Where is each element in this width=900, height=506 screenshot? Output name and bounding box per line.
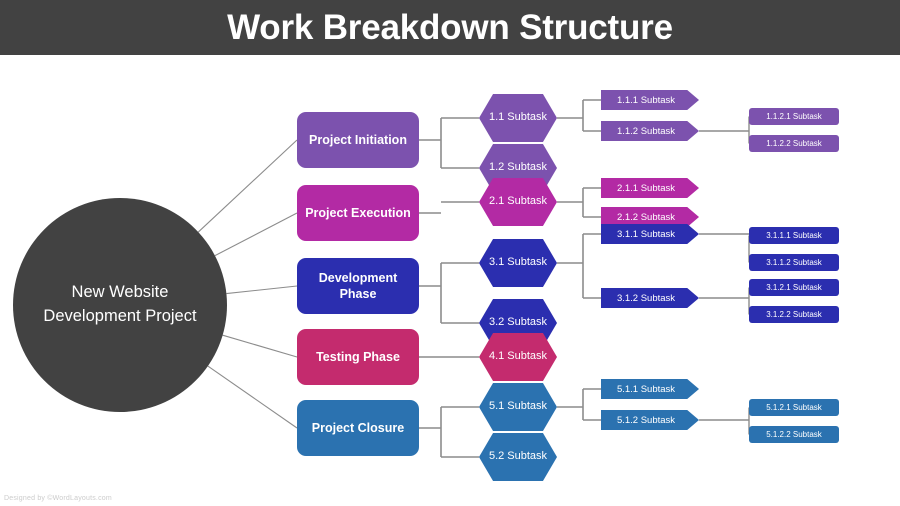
wbs-infographic: Work Breakdown Structure New Website Dev… xyxy=(0,0,900,506)
wbs-node-5.1.2-label: 5.1.2 Subtask xyxy=(617,415,675,426)
wbs-node-1.1.2[interactable]: 1.1.2 Subtask xyxy=(601,121,699,141)
wbs-node-1.1.2.1-label: 1.1.2.1 Subtask xyxy=(766,112,822,121)
wbs-node-1.2-label: 1.2 Subtask xyxy=(489,161,547,175)
wbs-node-5.2-label: 5.2 Subtask xyxy=(489,450,547,464)
wbs-node-3.1.1.1-label: 3.1.1.1 Subtask xyxy=(766,231,822,240)
wbs-node-1.1-label: 1.1 Subtask xyxy=(489,111,547,125)
wbs-node-2.1-label: 2.1 Subtask xyxy=(489,195,547,209)
diagram-canvas: New Website Development ProjectProject I… xyxy=(0,55,900,506)
wbs-node-5[interactable]: Project Closure xyxy=(297,400,419,456)
wbs-node-3.1.2.2-label: 3.1.2.2 Subtask xyxy=(766,310,822,319)
wbs-node-4.1-label: 4.1 Subtask xyxy=(489,350,547,364)
wbs-node-5.1.2[interactable]: 5.1.2 Subtask xyxy=(601,410,699,430)
wbs-node-3.1.1-label: 3.1.1 Subtask xyxy=(617,229,675,240)
wbs-node-3.1.2.1-label: 3.1.2.1 Subtask xyxy=(766,283,822,292)
wbs-node-1.1.1[interactable]: 1.1.1 Subtask xyxy=(601,90,699,110)
wbs-node-3.1.2[interactable]: 3.1.2 Subtask xyxy=(601,288,699,308)
wbs-node-2.1.2-label: 2.1.2 Subtask xyxy=(617,212,675,223)
wbs-node-1[interactable]: Project Initiation xyxy=(297,112,419,168)
page-title: Work Breakdown Structure xyxy=(227,10,673,45)
wbs-node-3-label: Development Phase xyxy=(303,270,413,303)
wbs-node-3.2-label: 3.2 Subtask xyxy=(489,316,547,330)
wbs-node-1.1.2.2-label: 1.1.2.2 Subtask xyxy=(766,139,822,148)
wbs-node-1.1.1-label: 1.1.1 Subtask xyxy=(617,95,675,106)
wbs-node-3.1[interactable]: 3.1 Subtask xyxy=(479,239,557,287)
wbs-node-4[interactable]: Testing Phase xyxy=(297,329,419,385)
root-node[interactable]: New Website Development Project xyxy=(13,198,227,412)
wbs-node-1.1[interactable]: 1.1 Subtask xyxy=(479,94,557,142)
wbs-node-4-label: Testing Phase xyxy=(316,349,400,365)
wbs-node-5.1.2.1-label: 5.1.2.1 Subtask xyxy=(766,403,822,412)
wbs-node-3.1.2.2[interactable]: 3.1.2.2 Subtask xyxy=(749,306,839,323)
wbs-node-5.1[interactable]: 5.1 Subtask xyxy=(479,383,557,431)
wbs-node-1.1.2-label: 1.1.2 Subtask xyxy=(617,126,675,137)
wbs-node-4.1[interactable]: 4.1 Subtask xyxy=(479,333,557,381)
wbs-node-2.1[interactable]: 2.1 Subtask xyxy=(479,178,557,226)
wbs-node-3.1.1.2-label: 3.1.1.2 Subtask xyxy=(766,258,822,267)
header-bar: Work Breakdown Structure xyxy=(0,0,900,55)
wbs-node-3.1.1.2[interactable]: 3.1.1.2 Subtask xyxy=(749,254,839,271)
wbs-node-5.1.2.2[interactable]: 5.1.2.2 Subtask xyxy=(749,426,839,443)
root-node-label: New Website Development Project xyxy=(35,281,205,329)
wbs-node-3.1.2.1[interactable]: 3.1.2.1 Subtask xyxy=(749,279,839,296)
wbs-node-5.1.1[interactable]: 5.1.1 Subtask xyxy=(601,379,699,399)
footer-credit: Designed by ©WordLayouts.com xyxy=(4,495,112,502)
wbs-node-3.1-label: 3.1 Subtask xyxy=(489,256,547,270)
wbs-node-5.1.1-label: 5.1.1 Subtask xyxy=(617,384,675,395)
wbs-node-3.1.1[interactable]: 3.1.1 Subtask xyxy=(601,224,699,244)
wbs-node-3.1.1.1[interactable]: 3.1.1.1 Subtask xyxy=(749,227,839,244)
wbs-node-5-label: Project Closure xyxy=(312,420,404,436)
wbs-node-2[interactable]: Project Execution xyxy=(297,185,419,241)
wbs-node-2-label: Project Execution xyxy=(305,205,411,221)
wbs-node-1-label: Project Initiation xyxy=(309,132,407,148)
wbs-node-5.2[interactable]: 5.2 Subtask xyxy=(479,433,557,481)
wbs-node-5.1.2.2-label: 5.1.2.2 Subtask xyxy=(766,430,822,439)
wbs-node-2.1.1-label: 2.1.1 Subtask xyxy=(617,183,675,194)
wbs-node-3.1.2-label: 3.1.2 Subtask xyxy=(617,293,675,304)
wbs-node-5.1.2.1[interactable]: 5.1.2.1 Subtask xyxy=(749,399,839,416)
wbs-node-2.1.1[interactable]: 2.1.1 Subtask xyxy=(601,178,699,198)
wbs-node-1.1.2.1[interactable]: 1.1.2.1 Subtask xyxy=(749,108,839,125)
wbs-node-1.1.2.2[interactable]: 1.1.2.2 Subtask xyxy=(749,135,839,152)
wbs-node-3[interactable]: Development Phase xyxy=(297,258,419,314)
wbs-node-5.1-label: 5.1 Subtask xyxy=(489,400,547,414)
